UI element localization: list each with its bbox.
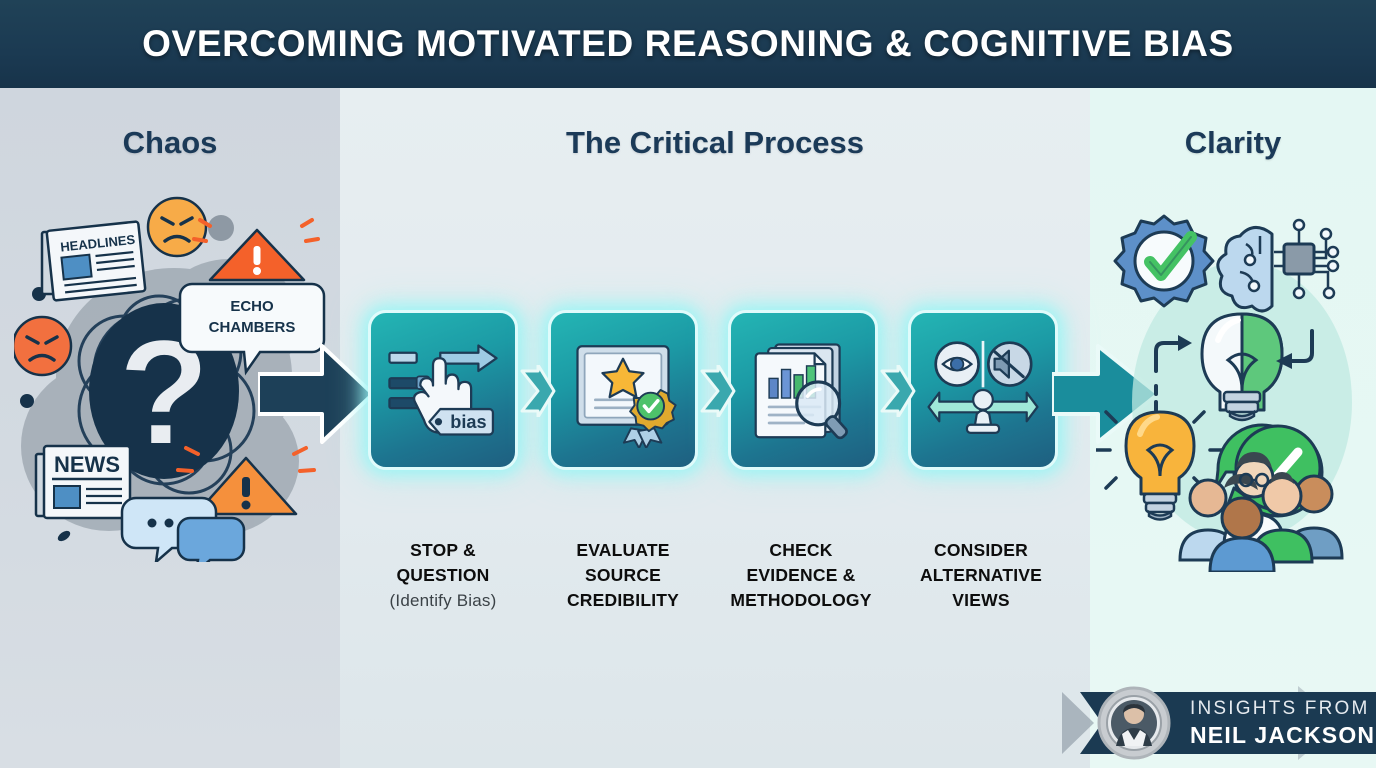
report-magnifier-icon [745, 332, 861, 448]
header-bar: OVERCOMING MOTIVATED REASONING & COGNITI… [0, 0, 1376, 88]
newspaper-news-icon: NEWS [36, 446, 130, 518]
angry-face-icon [148, 198, 206, 256]
badge-name-label: NEIL JACKSON [1190, 722, 1375, 749]
column-title-process: The Critical Process [340, 125, 1090, 161]
step-label-2: EVALUATE SOURCE CREDIBILITY [530, 538, 716, 613]
step-card-stop-question[interactable]: bias [368, 310, 518, 470]
stop-hand-bias-icon: bias [384, 331, 502, 449]
step-connector-chevron [520, 365, 556, 417]
badge-top-label: INSIGHTS FROM [1190, 698, 1375, 720]
step-label-4: CONSIDER ALTERNATIVE VIEWS [888, 538, 1074, 613]
page-title: OVERCOMING MOTIVATED REASONING & COGNITI… [142, 23, 1234, 65]
branding-badge[interactable]: INSIGHTS FROM NEIL JACKSON [1062, 684, 1376, 762]
step-connector-chevron [700, 365, 736, 417]
step-card-evaluate-source[interactable] [548, 310, 698, 470]
svg-text:NEWS: NEWS [54, 452, 120, 477]
svg-text:CHAMBERS: CHAMBERS [209, 319, 296, 336]
eye-mute-balance-icon [925, 332, 1041, 448]
infographic-canvas: OVERCOMING MOTIVATED REASONING & COGNITI… [0, 0, 1376, 768]
clarity-illustration [1096, 206, 1376, 572]
column-title-chaos: Chaos [0, 125, 340, 161]
svg-text:ECHO: ECHO [230, 298, 274, 315]
badge-text-block: INSIGHTS FROM NEIL JACKSON [1190, 698, 1375, 749]
svg-text:bias: bias [450, 412, 486, 432]
step-label-3: CHECK EVIDENCE & METHODOLOGY [708, 538, 894, 613]
process-steps-row: bias [340, 310, 1090, 480]
step-card-check-evidence[interactable] [728, 310, 878, 470]
column-title-clarity: Clarity [1090, 125, 1376, 161]
certificate-award-icon [565, 332, 681, 448]
angry-face-icon [14, 317, 71, 375]
step-connector-chevron [880, 365, 916, 417]
step-label-1: STOP & QUESTION (Identify Bias) [350, 538, 536, 613]
step-card-consider-alternative[interactable] [908, 310, 1058, 470]
newspaper-headlines-icon: HEADLINES [42, 221, 145, 300]
